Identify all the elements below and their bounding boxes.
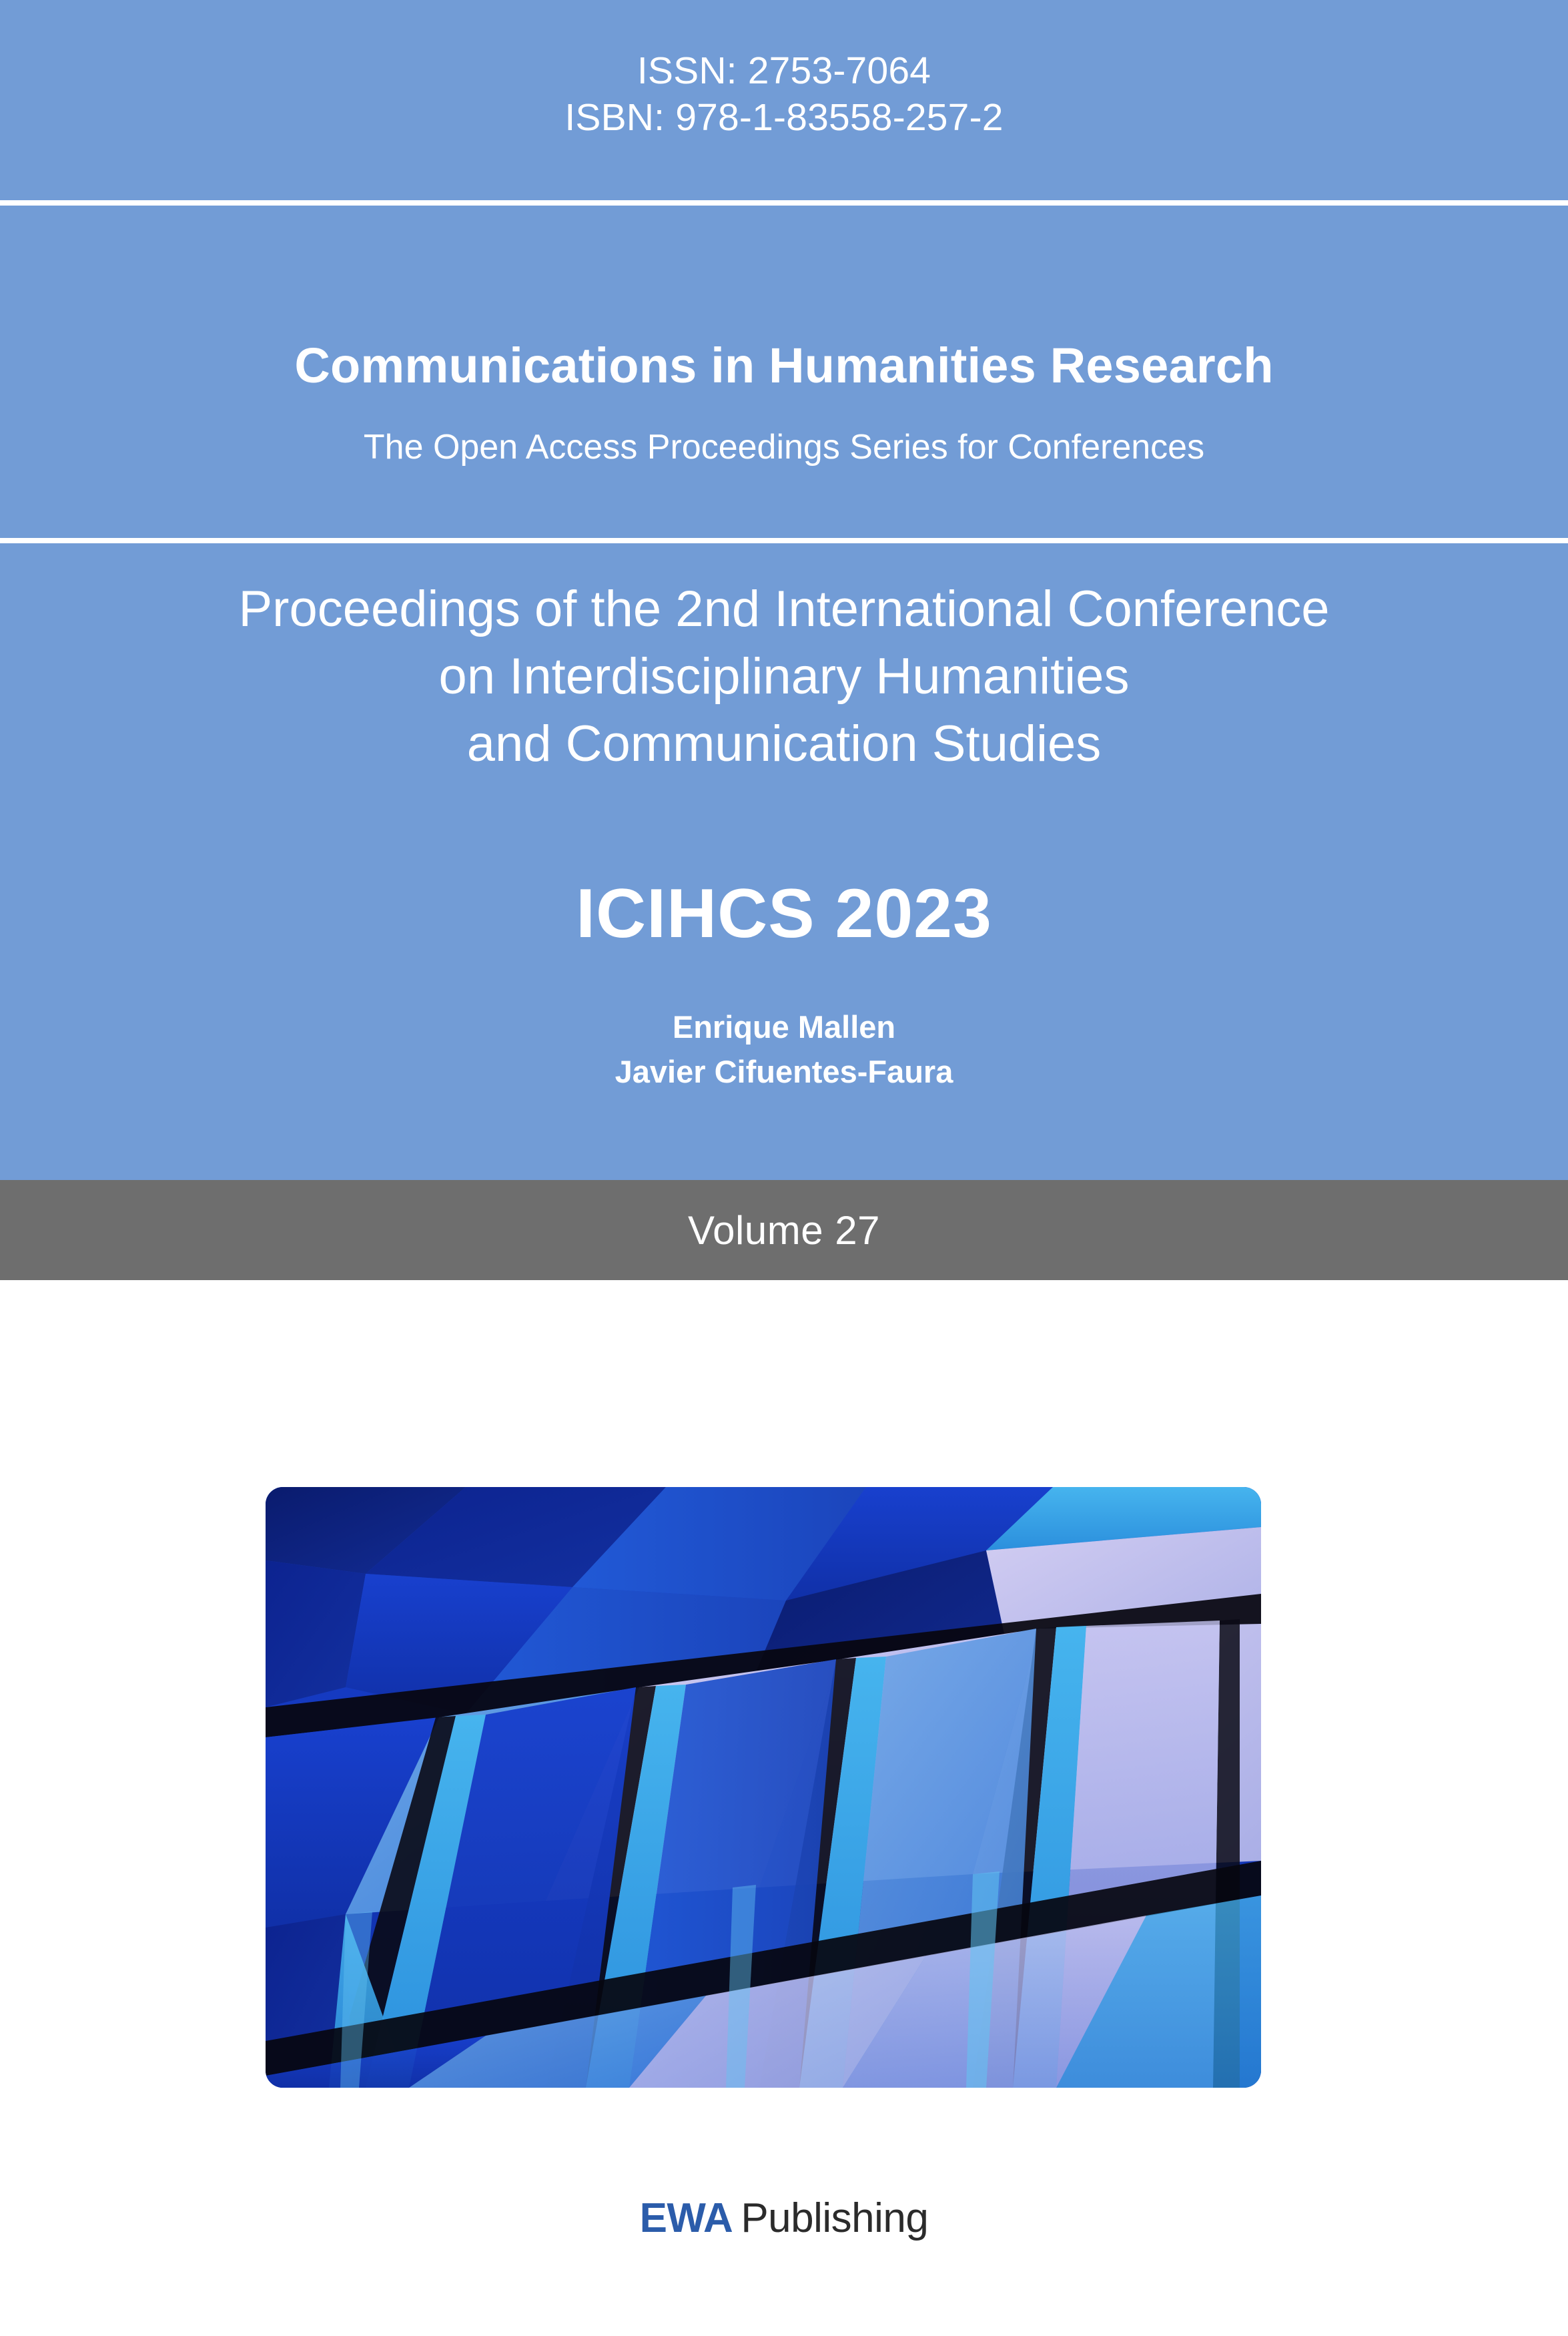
proceedings-title-line-2: on Interdisciplinary Humanities [0, 643, 1568, 710]
book-cover: ISSN: 2753-7064 ISBN: 978-1-83558-257-2 … [0, 0, 1568, 2336]
identifier-block: ISSN: 2753-7064 ISBN: 978-1-83558-257-2 [0, 48, 1568, 141]
editor-name-2: Javier Cifuentes-Faura [0, 1049, 1568, 1094]
cover-artwork-frame [266, 1487, 1261, 2088]
conference-acronym: ICIHCS 2023 [0, 874, 1568, 954]
series-title: Communications in Humanities Research [0, 337, 1568, 394]
proceedings-title: Proceedings of the 2nd International Con… [0, 575, 1568, 778]
editor-name-1: Enrique Mallen [0, 1004, 1568, 1049]
issn-text: ISSN: 2753-7064 [0, 48, 1568, 95]
publisher-mark-text: EWA [640, 2195, 733, 2241]
isbn-text: ISBN: 978-1-83558-257-2 [0, 95, 1568, 141]
divider-rule-middle [0, 538, 1568, 543]
editor-list: Enrique Mallen Javier Cifuentes-Faura [0, 1004, 1568, 1094]
publisher-name-text: Publishing [741, 2195, 928, 2241]
publisher-logo: EWAPublishing [0, 2195, 1568, 2242]
volume-label: Volume 27 [688, 1207, 880, 1253]
proceedings-title-line-3: and Communication Studies [0, 710, 1568, 778]
series-subtitle: The Open Access Proceedings Series for C… [0, 427, 1568, 467]
divider-rule-top [0, 200, 1568, 206]
proceedings-title-line-1: Proceedings of the 2nd International Con… [0, 575, 1568, 643]
masthead-blue-panel: ISSN: 2753-7064 ISBN: 978-1-83558-257-2 … [0, 0, 1568, 1180]
volume-band: Volume 27 [0, 1180, 1568, 1280]
cover-artwork-image [266, 1487, 1261, 2088]
